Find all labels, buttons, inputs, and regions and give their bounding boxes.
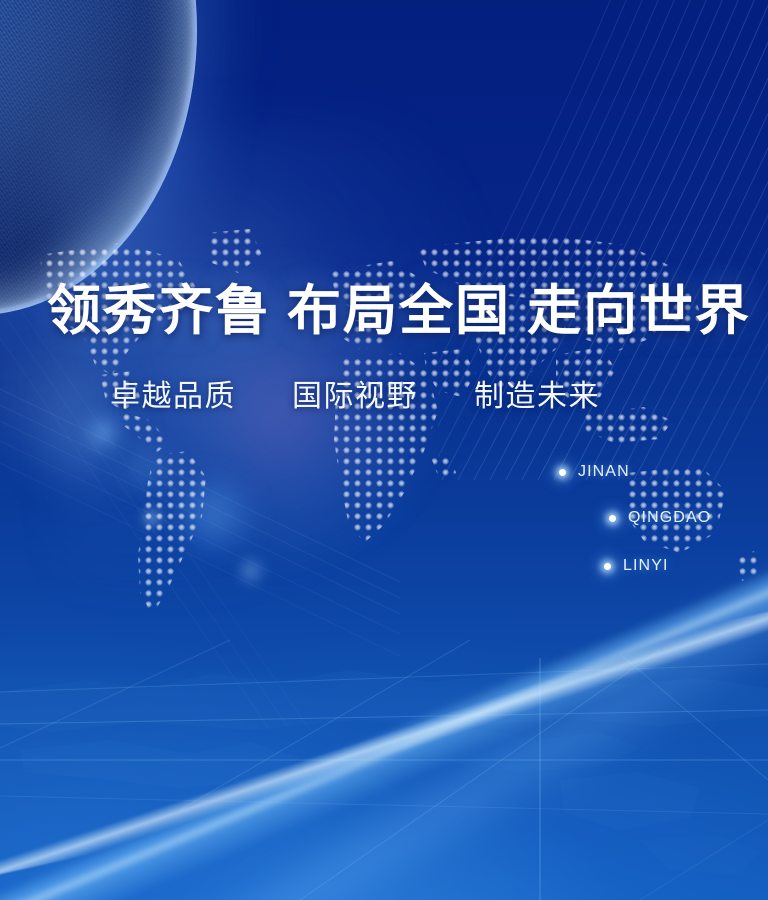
location-dot-icon bbox=[609, 515, 616, 522]
banner-subheadline: 卓越品质国际视野制造未来 bbox=[110, 371, 600, 415]
subheadline-segment-3: 制造未来 bbox=[474, 380, 600, 413]
subheadline-segment-1: 卓越品质 bbox=[110, 380, 236, 413]
city-marker-qingdao: QINGDAO bbox=[609, 509, 711, 527]
location-dot-icon bbox=[559, 469, 566, 476]
city-marker-linyi: LINYI bbox=[604, 557, 669, 575]
city-marker-jinan: JINAN bbox=[559, 463, 630, 481]
city-label-linyi: LINYI bbox=[623, 557, 669, 575]
city-label-jinan: JINAN bbox=[578, 463, 630, 481]
headline-segment-1: 领秀齐鲁 bbox=[47, 281, 271, 341]
banner-copy: 领秀齐鲁布局全国走向世界 卓越品质国际视野制造未来 JINAN QINGDAO … bbox=[0, 0, 768, 900]
headline-segment-2: 布局全国 bbox=[287, 281, 511, 341]
city-label-qingdao: QINGDAO bbox=[628, 509, 711, 527]
subheadline-segment-2: 国际视野 bbox=[292, 380, 418, 413]
headline-segment-3: 走向世界 bbox=[527, 281, 751, 341]
hero-banner: 领秀齐鲁布局全国走向世界 卓越品质国际视野制造未来 JINAN QINGDAO … bbox=[0, 0, 768, 900]
location-dot-icon bbox=[604, 563, 611, 570]
banner-headline: 领秀齐鲁布局全国走向世界 bbox=[47, 266, 751, 345]
